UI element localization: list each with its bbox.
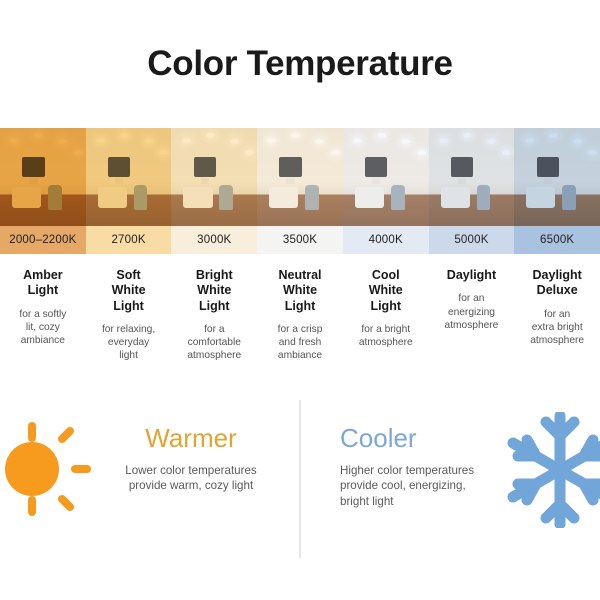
kelvin-label: 2700K xyxy=(86,226,172,254)
photo-cell xyxy=(171,128,257,226)
light-type-cell: Daylight Deluxefor an extra bright atmos… xyxy=(514,268,600,363)
light-type-description: for a softly lit, cozy ambiance xyxy=(4,308,82,348)
light-type-cell: Daylightfor an energizing atmosphere xyxy=(429,268,515,363)
kelvin-label: 5000K xyxy=(429,226,515,254)
light-type-name: Daylight Deluxe xyxy=(518,268,596,299)
kelvin-swatch-row: 2000–2200K2700K3000K3500K4000K5000K6500K xyxy=(0,226,600,254)
warmer-heading: Warmer xyxy=(86,424,296,453)
kelvin-label: 3500K xyxy=(257,226,343,254)
title-section: Color Temperature xyxy=(0,0,600,128)
color-temperature-glow xyxy=(514,128,600,226)
color-temperature-glow xyxy=(0,128,86,226)
photo-cell xyxy=(429,128,515,226)
kelvin-label: 2000–2200K xyxy=(0,226,86,254)
light-type-description: for an energizing atmosphere xyxy=(433,292,511,332)
photo-cell xyxy=(257,128,343,226)
light-type-cell: Amber Lightfor a softly lit, cozy ambian… xyxy=(0,268,86,363)
light-type-description: for a bright atmosphere xyxy=(347,323,425,350)
snowflake-icon xyxy=(502,412,600,528)
light-type-name: Neutral White Light xyxy=(261,268,339,314)
light-type-cell: Neutral White Lightfor a crisp and fresh… xyxy=(257,268,343,363)
color-temperature-glow xyxy=(429,128,515,226)
kelvin-label: 4000K xyxy=(343,226,429,254)
light-type-description: for a comfortable atmosphere xyxy=(175,323,253,363)
light-type-cell: Soft White Lightfor relaxing, everyday l… xyxy=(86,268,172,363)
light-type-name: Cool White Light xyxy=(347,268,425,314)
light-type-description: for relaxing, everyday light xyxy=(90,323,168,363)
color-temperature-glow xyxy=(171,128,257,226)
cooler-side: Cooler Higher color temperatures provide… xyxy=(300,392,600,568)
kelvin-label: 3000K xyxy=(171,226,257,254)
color-temperature-glow xyxy=(257,128,343,226)
light-type-name: Bright White Light xyxy=(175,268,253,314)
color-temperature-glow xyxy=(86,128,172,226)
photo-cell xyxy=(343,128,429,226)
warmer-description: Lower color temperatures provide warm, c… xyxy=(86,463,296,494)
light-type-name: Daylight xyxy=(433,268,511,283)
light-type-description: for an extra bright atmosphere xyxy=(518,308,596,348)
photo-cell xyxy=(86,128,172,226)
warm-cool-comparison: Warmer Lower color temperatures provide … xyxy=(0,392,600,568)
photo-strip xyxy=(0,128,600,226)
warmer-text-block: Warmer Lower color temperatures provide … xyxy=(86,424,296,494)
photo-cell xyxy=(514,128,600,226)
light-type-name: Amber Light xyxy=(4,268,82,299)
light-type-cell: Bright White Lightfor a comfortable atmo… xyxy=(171,268,257,363)
light-type-description: for a crisp and fresh ambiance xyxy=(261,323,339,363)
light-type-cell: Cool White Lightfor a bright atmosphere xyxy=(343,268,429,363)
infographic-page: Color Temperature 2000–2200K2700K3000K35… xyxy=(0,0,600,600)
sun-icon xyxy=(0,414,94,524)
light-type-name: Soft White Light xyxy=(90,268,168,314)
photo-cell xyxy=(0,128,86,226)
color-temperature-glow xyxy=(343,128,429,226)
kelvin-label: 6500K xyxy=(514,226,600,254)
warmer-side: Warmer Lower color temperatures provide … xyxy=(0,392,300,568)
light-type-row: Amber Lightfor a softly lit, cozy ambian… xyxy=(0,254,600,363)
page-title: Color Temperature xyxy=(147,44,452,84)
